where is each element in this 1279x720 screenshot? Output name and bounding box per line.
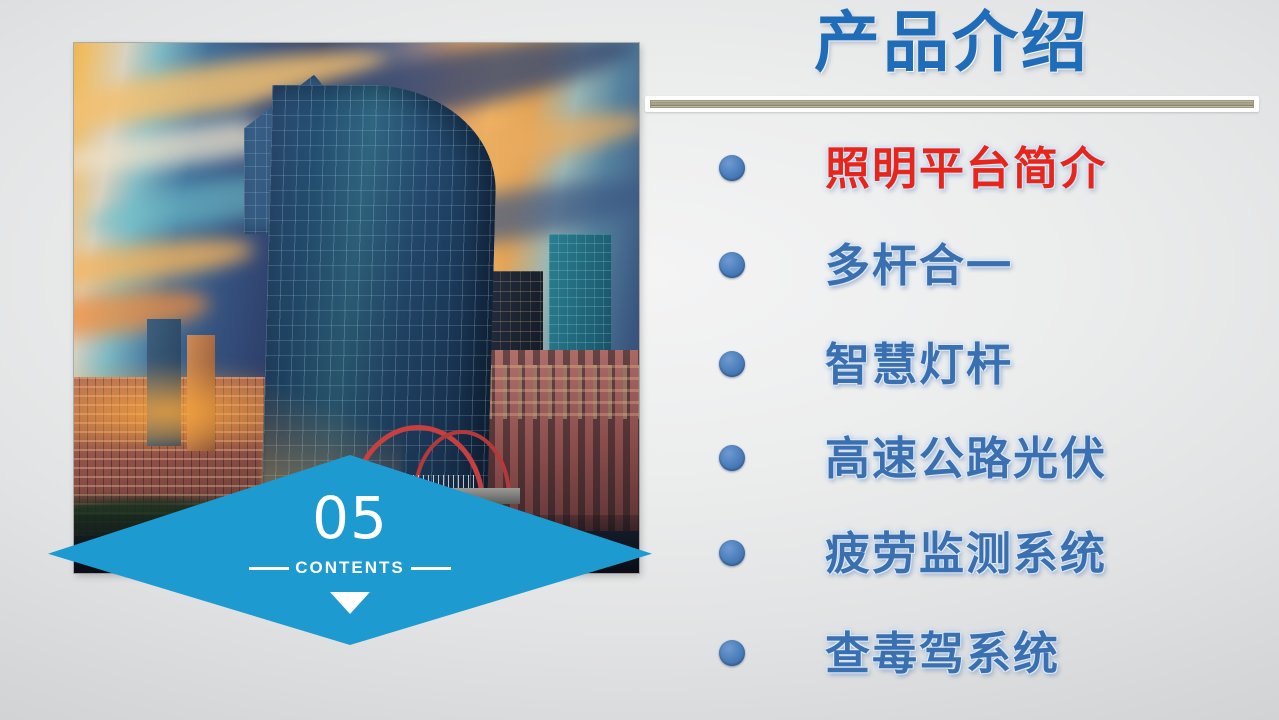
presentation-slide: 05 CONTENTS 产品介绍 照明平台简介 多杆合一 智慧灯杆 高速公路光伏: [0, 0, 1279, 720]
list-item-label: 多杆合一: [825, 243, 1265, 288]
bullet-dot-icon: [719, 540, 745, 566]
title-divider: [645, 96, 1259, 112]
list-item-label: 查毒驾系统: [825, 631, 1265, 676]
list-item[interactable]: 查毒驾系统: [645, 613, 1279, 693]
list-item-label: 智慧灯杆: [825, 342, 1265, 387]
bullet-dot-icon: [719, 252, 745, 278]
page-title: 产品介绍: [645, 6, 1259, 80]
bullet-dot-icon: [719, 351, 745, 377]
list-item[interactable]: 高速公路光伏: [645, 418, 1279, 498]
list-item[interactable]: 智慧灯杆: [645, 324, 1279, 404]
list-item-label: 疲劳监测系统: [825, 531, 1265, 576]
list-item-label: 高速公路光伏: [825, 436, 1265, 481]
bullet-dot-icon: [719, 640, 745, 666]
agenda-list: 照明平台简介 多杆合一 智慧灯杆 高速公路光伏 疲劳监测系统 查毒驾系统: [645, 128, 1279, 708]
list-item[interactable]: 照明平台简介: [645, 128, 1279, 208]
list-item[interactable]: 多杆合一: [645, 225, 1279, 305]
bullet-dot-icon: [719, 155, 745, 181]
list-item-label: 照明平台简介: [825, 146, 1265, 191]
list-item[interactable]: 疲劳监测系统: [645, 513, 1279, 593]
bullet-dot-icon: [719, 445, 745, 471]
divider-core: [650, 100, 1254, 108]
